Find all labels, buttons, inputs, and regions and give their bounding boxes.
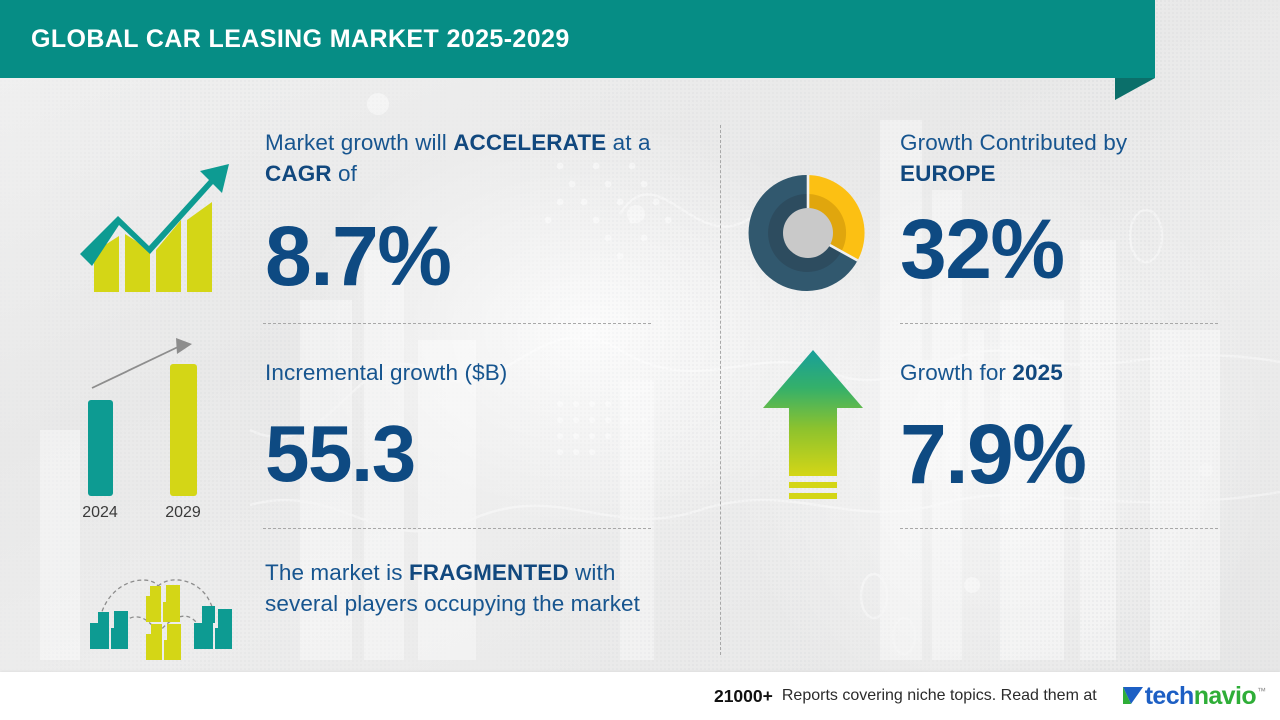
card-cagr: Market growth will ACCELERATE at a CAGR … [265,127,665,298]
card-europe-lead-emphasis: EUROPE [900,161,996,186]
right-divider-2 [900,528,1218,529]
header-fold-corner [1115,78,1155,100]
card-growth-2025-value: 7.9% [900,412,1220,496]
trend-arrow-head [176,338,192,354]
bar-label-2024: 2024 [82,504,118,521]
footer-tagline: Reports covering niche topics. Read them… [782,687,1097,705]
footer-bar: 21000+ Reports covering niche topics. Re… [0,672,1280,720]
logo-text-tech: tech [1145,682,1194,710]
building-cluster-right [194,606,232,649]
arrow-body [763,350,863,476]
card-growth-2025-lead: Growth for 2025 [900,357,1220,388]
card-cagr-lead-emphasis-2: CAGR [265,161,332,186]
card-growth-2025-lead-emphasis: 2025 [1012,360,1062,385]
card-fragmented-lead-emphasis: FRAGMENTED [409,560,569,585]
building-cluster-top [146,585,180,622]
building-cluster-left [90,611,128,649]
trademark-symbol: ™ [1257,686,1266,696]
footer-content: 21000+ Reports covering niche topics. Re… [714,684,1280,709]
reports-count: 21000+ [714,686,773,707]
technavio-wordmark: technavio [1145,684,1256,709]
card-cagr-lead: Market growth will ACCELERATE at a CAGR … [265,127,665,189]
fragmented-market-buildings-icon [62,556,252,664]
card-fragmented-lead-text-1: The market is [265,560,409,585]
card-growth-2025: Growth for 2025 7.9% [900,357,1220,496]
donut-chart-icon [745,170,871,296]
right-divider-1 [900,323,1218,324]
card-cagr-lead-text-2: at a [606,130,650,155]
donut-center-hole [783,208,833,258]
technavio-logo-mark [1122,685,1144,709]
card-cagr-lead-text-1: Market growth will [265,130,453,155]
two-bar-comparison-icon: 2024 2029 [72,332,222,522]
infographic-canvas: GLOBAL CAR LEASING MARKET 2025-2029 Mark… [0,0,1280,720]
card-incremental-lead: Incremental growth ($B) [265,357,665,388]
bar-2029 [170,364,197,496]
arrow-base-stripes [789,482,837,499]
left-divider-1 [263,323,651,324]
bar-label-2029: 2029 [165,504,201,521]
card-fragmented: The market is FRAGMENTED with several pl… [265,557,673,619]
page-title: GLOBAL CAR LEASING MARKET 2025-2029 [31,0,570,78]
card-europe-value: 32% [900,207,1220,291]
growth-arrow-bar-chart-icon [72,158,237,293]
card-incremental: Incremental growth ($B) 55.3 [265,357,665,494]
bar-2024 [88,400,113,496]
card-cagr-lead-text-3: of [332,161,357,186]
card-europe-lead-text: Growth Contributed by [900,130,1127,155]
card-fragmented-lead: The market is FRAGMENTED with several pl… [265,557,673,619]
technavio-logo[interactable]: technavio ™ [1122,684,1266,709]
card-cagr-lead-emphasis-1: ACCELERATE [453,130,606,155]
column-divider [720,125,721,655]
card-europe: Growth Contributed by EUROPE 32% [900,127,1220,291]
building-cluster-bottom [146,624,181,660]
trend-arrow-line [92,346,180,388]
header-bar: GLOBAL CAR LEASING MARKET 2025-2029 [0,0,1155,78]
card-growth-2025-lead-text: Growth for [900,360,1012,385]
card-europe-lead: Growth Contributed by EUROPE [900,127,1220,189]
card-cagr-value: 8.7% [265,214,665,298]
card-incremental-value: 55.3 [265,414,665,494]
left-divider-2 [263,528,651,529]
logo-text-navio: navio [1194,682,1256,710]
up-arrow-gradient-icon [757,346,869,508]
